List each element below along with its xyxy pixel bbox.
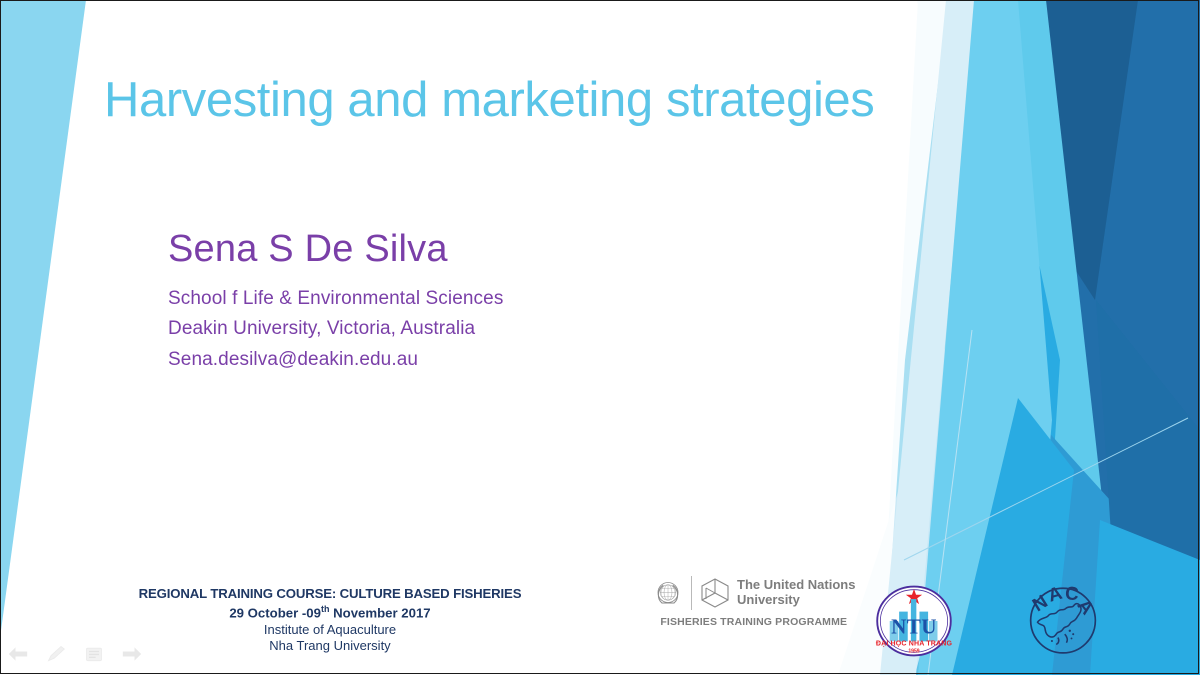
footer-text-block: REGIONAL TRAINING COURSE: CULTURE BASED … (124, 586, 536, 655)
right-band-dark-lower (1096, 300, 1200, 675)
left-blue-band (0, 0, 86, 638)
author-block: Sena S De Silva School f Life & Environm… (168, 228, 503, 376)
author-email: Sena.desilva@deakin.edu.au (168, 345, 503, 376)
svg-text:A: A (1046, 582, 1065, 606)
unu-wordmark-line-2: University (737, 593, 855, 608)
ntu-logo-icon: NTU ĐẠI HỌC NHA TRANG 1959 (874, 585, 954, 657)
footer-course-title: REGIONAL TRAINING COURSE: CULTURE BASED … (124, 586, 536, 603)
right-band-dark (1010, 0, 1200, 675)
unu-logo-divider (691, 576, 692, 610)
naca-logo-icon: N A C A (1020, 578, 1106, 658)
right-band-darkest (1036, 0, 1200, 675)
svg-text:C: C (1064, 582, 1079, 604)
ntu-acronym: NTU (891, 615, 937, 639)
ntu-year: 1959 (908, 648, 919, 654)
footer-university: Nha Trang University (124, 638, 536, 655)
right-band-cyan-main (960, 0, 1122, 675)
united-nations-emblem-icon (652, 577, 684, 609)
menu-icon[interactable] (84, 645, 104, 663)
hairline-diagonal (904, 418, 1188, 560)
author-affiliation-university: Deakin University, Victoria, Australia (168, 314, 503, 345)
unu-wordmark-line-1: The United Nations (737, 578, 855, 593)
presentation-slide: Harvesting and marketing strategies Sena… (0, 0, 1200, 675)
naca-acronym: N A C A (1028, 582, 1098, 619)
unu-wordmark: The United Nations University (737, 578, 855, 608)
footer-dates-suffix: November 2017 (329, 605, 430, 620)
arrow-left-icon[interactable] (8, 645, 28, 663)
slide-title: Harvesting and marketing strategies (104, 72, 904, 128)
footer-dates-prefix: 29 October -09 (229, 605, 321, 620)
unu-programme-label: FISHERIES TRAINING PROGRAMME (652, 616, 855, 628)
right-band-navy-wedge (1018, 0, 1138, 300)
footer-dates: 29 October -09th November 2017 (124, 603, 536, 622)
unu-logo: The United Nations University FISHERIES … (652, 576, 855, 628)
pen-icon[interactable] (46, 645, 66, 663)
author-affiliation-school: School f Life & Environmental Sciences (168, 284, 503, 315)
arrow-right-icon[interactable] (122, 645, 142, 663)
right-band-pale-upper (880, 0, 1060, 675)
unu-geometric-mark-icon (700, 577, 730, 609)
right-band-midcyan (918, 0, 1052, 675)
right-band-cyan-edge (1090, 520, 1200, 675)
author-name: Sena S De Silva (168, 228, 503, 272)
unu-logo-row: The United Nations University (652, 576, 855, 610)
presenter-controls[interactable] (8, 645, 142, 663)
footer-institute: Institute of Aquaculture (124, 622, 536, 639)
ntu-subtitle: ĐẠI HỌC NHA TRANG (876, 640, 953, 647)
